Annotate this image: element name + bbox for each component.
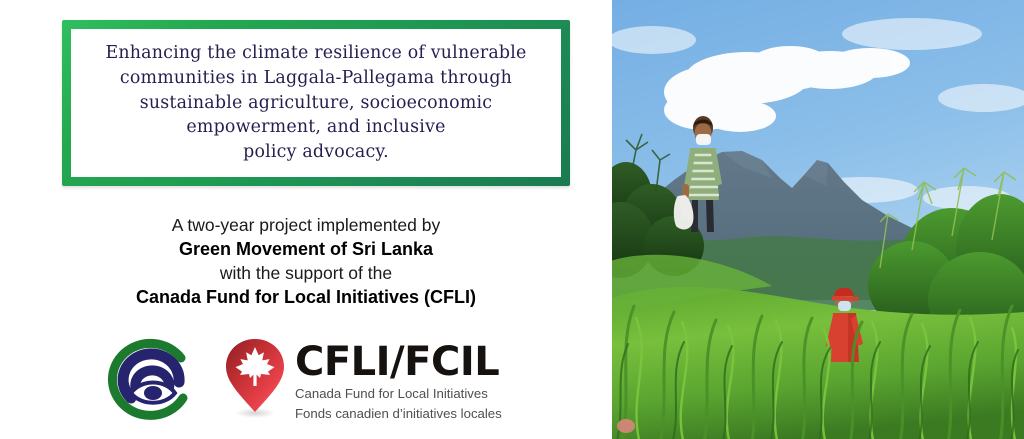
green-movement-logo-icon (103, 336, 195, 428)
credits-line-funder: Canada Fund for Local Initiatives (CFLI) (0, 285, 612, 309)
cfli-fcil-logo: CFLI/FCIL Canada Fund for Local Initiati… (224, 337, 502, 421)
cfli-subtitle-en: Canada Fund for Local Initiatives (295, 386, 502, 402)
project-title-line-2: communities in Laggala-Pallegama through (105, 66, 526, 91)
credits-line-implemented-by: A two-year project implemented by (0, 213, 612, 237)
photograph-illustration (612, 0, 1024, 439)
project-site-photograph (612, 0, 1024, 439)
poster-root: Enhancing the climate resilience of vuln… (0, 0, 1024, 439)
project-title-line-4: empowerment, and inclusive (105, 115, 526, 140)
credits-line-implementer: Green Movement of Sri Lanka (0, 237, 612, 261)
project-title-box-inner: Enhancing the climate resilience of vuln… (71, 29, 561, 177)
left-content-panel: Enhancing the climate resilience of vuln… (0, 0, 612, 439)
cfli-subtitle-fr: Fonds canadien d’initiatives locales (295, 406, 502, 422)
project-title-text: Enhancing the climate resilience of vuln… (93, 41, 538, 165)
credits-line-support: with the support of the (0, 261, 612, 285)
canada-maple-leaf-pin-icon (224, 337, 286, 419)
credits-block: A two-year project implemented by Green … (0, 213, 612, 309)
project-title-box: Enhancing the climate resilience of vuln… (62, 20, 570, 186)
cfli-wordmark: CFLI/FCIL (295, 342, 502, 382)
cfli-wordmark-block: CFLI/FCIL Canada Fund for Local Initiati… (295, 337, 502, 421)
project-title-line-1: Enhancing the climate resilience of vuln… (105, 41, 526, 66)
project-title-line-3: sustainable agriculture, socioeconomic (105, 91, 526, 116)
project-title-line-5: policy advocacy. (105, 140, 526, 165)
logo-strip: CFLI/FCIL Canada Fund for Local Initiati… (0, 334, 612, 430)
